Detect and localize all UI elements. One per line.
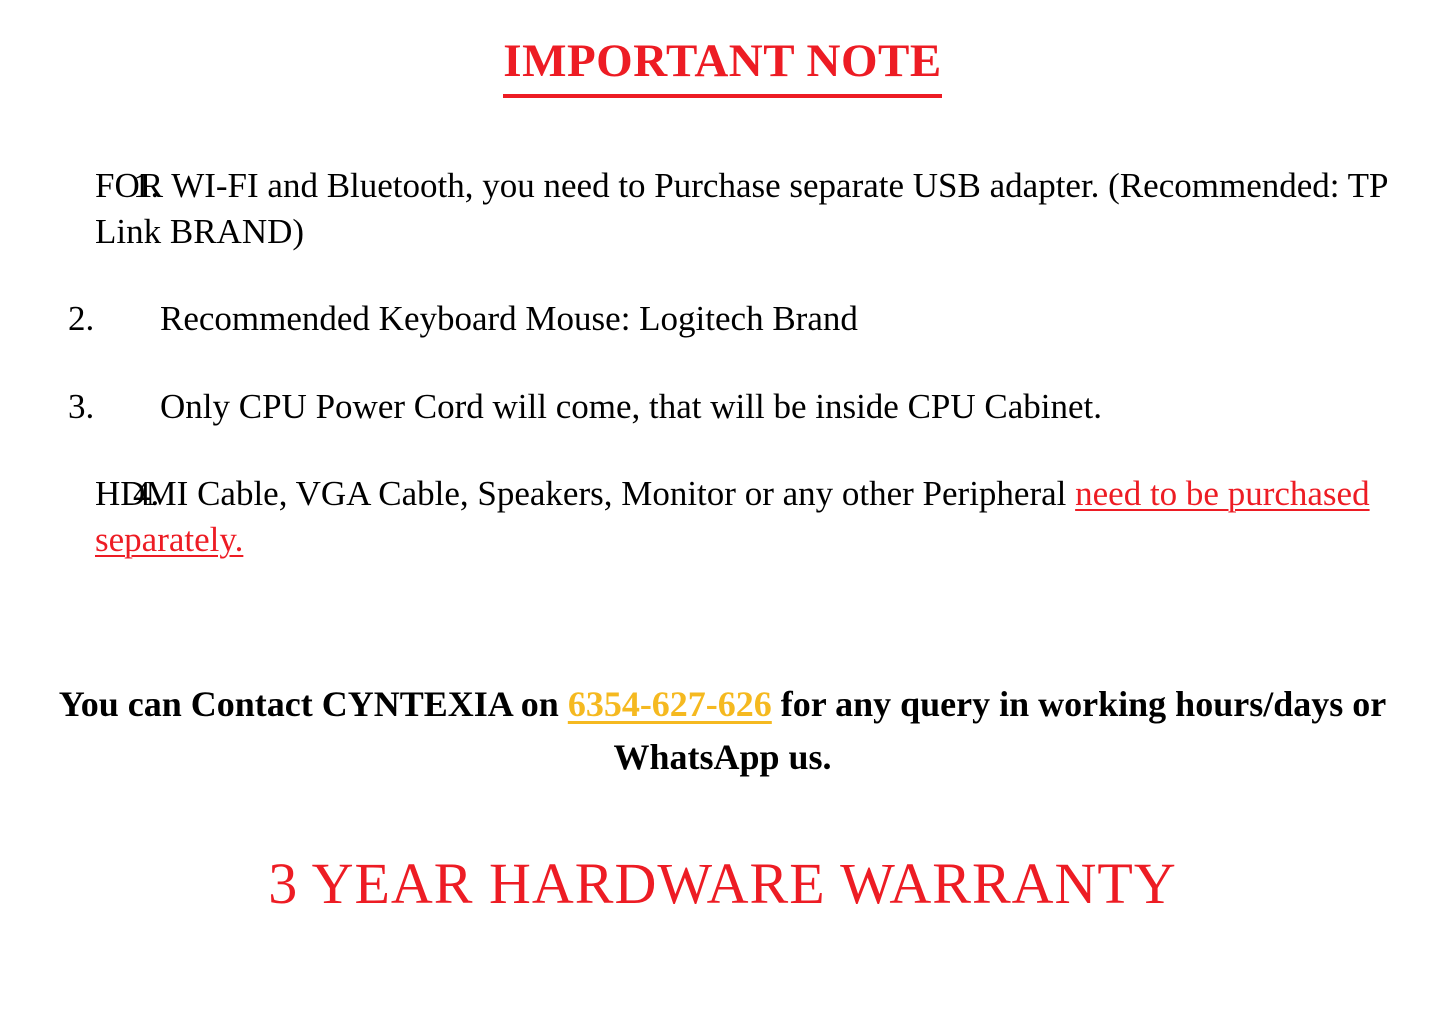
page-title: IMPORTANT NOTE (0, 34, 1445, 98)
important-note-list: 1. FOR WI-FI and Bluetooth, you need to … (0, 163, 1445, 604)
page-title-text: IMPORTANT NOTE (503, 34, 941, 98)
list-item: 2. Recommended Keyboard Mouse: Logitech … (0, 296, 1445, 342)
list-item-number: 4. (68, 471, 138, 517)
contact-prefix: You can Contact CYNTEXIA on (59, 684, 559, 724)
contact-phone-number[interactable]: 6354-627-626 (568, 684, 772, 724)
list-item-text: Recommended Keyboard Mouse: Logitech Bra… (160, 296, 1417, 342)
list-item-number: 1. (68, 163, 138, 209)
list-item-text: HDMI Cable, VGA Cable, Speakers, Monitor… (95, 471, 1417, 562)
list-item-number: 3. (68, 384, 138, 430)
warranty-banner: 3 YEAR HARDWARE WARRANTY (0, 852, 1445, 916)
list-item: 4. HDMI Cable, VGA Cable, Speakers, Moni… (0, 471, 1445, 562)
list-item-text: Only CPU Power Cord will come, that will… (160, 384, 1417, 430)
document-page: IMPORTANT NOTE 1. FOR WI-FI and Bluetoot… (0, 0, 1445, 1022)
list-item: 3. Only CPU Power Cord will come, that w… (0, 384, 1445, 430)
warranty-text: 3 YEAR HARDWARE WARRANTY (268, 851, 1177, 916)
list-item-text: FOR WI-FI and Bluetooth, you need to Pur… (95, 163, 1417, 254)
contact-paragraph: You can Contact CYNTEXIA on 6354-627-626… (0, 678, 1445, 785)
list-item-text-plain: HDMI Cable, VGA Cable, Speakers, Monitor… (95, 474, 1066, 513)
list-item-number: 2. (68, 296, 138, 342)
list-item: 1. FOR WI-FI and Bluetooth, you need to … (0, 163, 1445, 254)
